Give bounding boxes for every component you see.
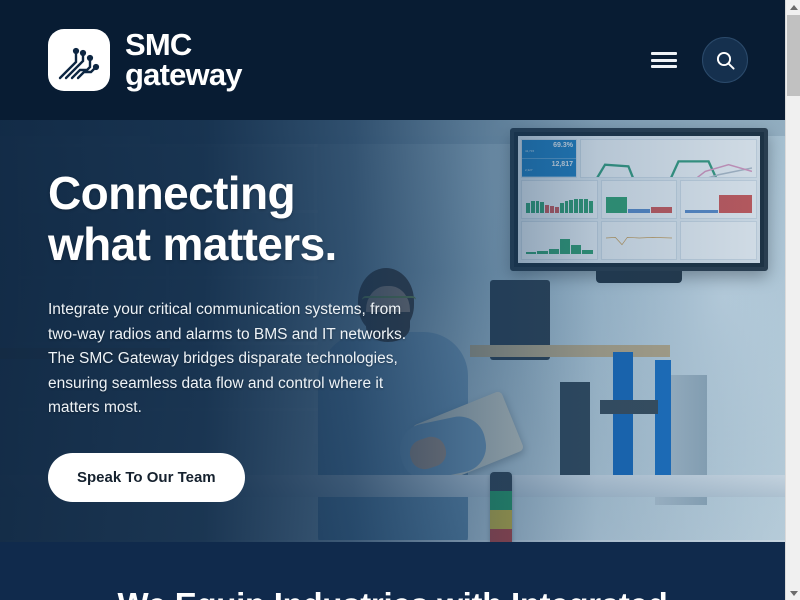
brand-wordmark: SMC gateway [125,30,242,90]
hamburger-menu-icon[interactable] [651,50,677,70]
brand-line-1: SMC [125,30,242,60]
brand-line-2: gateway [125,60,242,90]
hero-content: Connecting what matters. Integrate your … [48,168,448,502]
section-we-equip-industries: We Equip Industries with Integrated [0,542,785,600]
hero-title: Connecting what matters. [48,168,448,269]
scroll-down-arrow-icon[interactable] [786,586,800,600]
section-two-heading: We Equip Industries with Integrated [0,586,785,600]
search-icon [715,50,736,71]
scroll-up-arrow-icon[interactable] [786,0,800,14]
hero-section: 69.3% 41,715 12,817 2,327 [0,120,785,542]
browser-page: SMC gateway [0,0,800,600]
vertical-scrollbar[interactable] [785,0,800,600]
speak-to-our-team-button[interactable]: Speak To Our Team [48,453,245,502]
search-button[interactable] [702,37,748,83]
brand-logo[interactable]: SMC gateway [48,29,242,91]
hamburger-bar [651,65,677,68]
scrollbar-thumb[interactable] [787,15,800,96]
hero-title-line-2: what matters. [48,218,337,270]
page-viewport: SMC gateway [0,0,785,600]
header-actions [651,37,748,83]
hero-title-line-1: Connecting [48,167,295,219]
hamburger-bar [651,52,677,55]
site-header: SMC gateway [0,0,785,120]
hamburger-bar [651,59,677,62]
hero-paragraph: Integrate your critical communication sy… [48,298,420,420]
circuit-board-icon [48,29,110,91]
